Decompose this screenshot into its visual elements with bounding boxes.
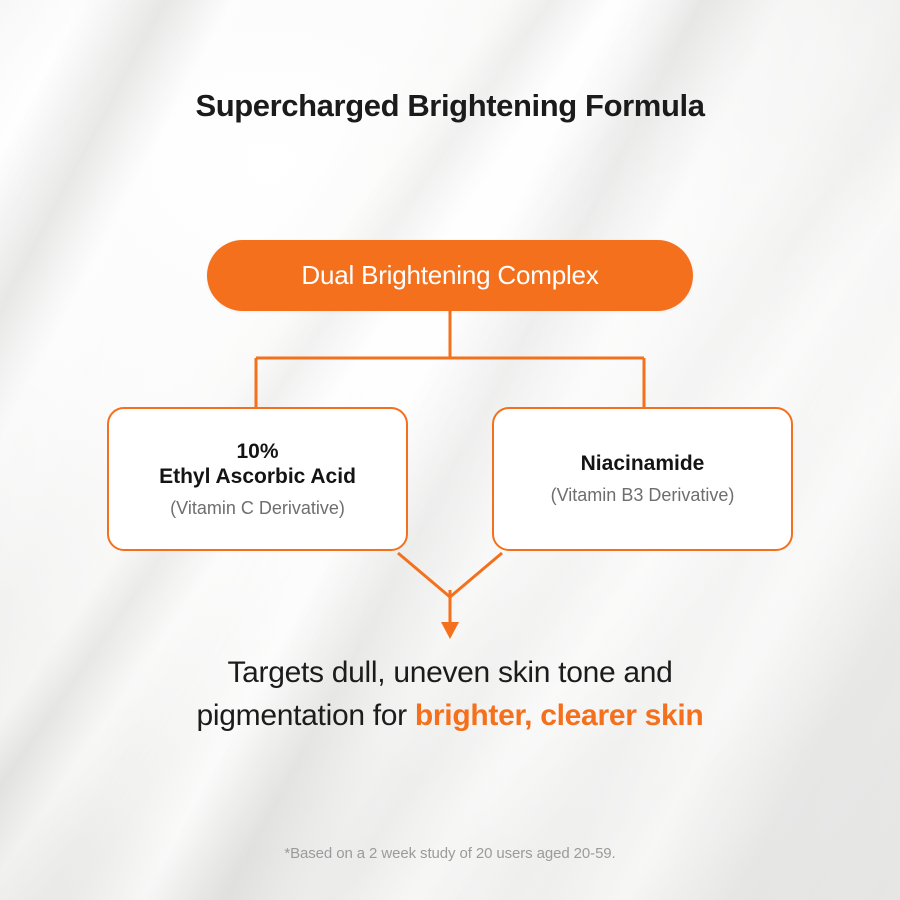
benefit-line-1: Targets dull, uneven skin tone and bbox=[227, 656, 672, 689]
dual-brightening-complex-pill: Dual Brightening Complex bbox=[207, 240, 693, 311]
ingredient-subtitle: (Vitamin C Derivative) bbox=[170, 498, 345, 520]
arrow-down-icon bbox=[441, 622, 459, 639]
infographic-content: Supercharged Brightening Formula Dual Br… bbox=[0, 0, 900, 900]
ingredient-card-ethyl-ascorbic-acid: 10% Ethyl Ascorbic Acid (Vitamin C Deriv… bbox=[107, 407, 408, 551]
benefit-line-2-lead: pigmentation for bbox=[197, 699, 415, 732]
benefit-statement: Targets dull, uneven skin tone and pigme… bbox=[0, 652, 900, 737]
brightening-formula-infographic: Supercharged Brightening Formula Dual Br… bbox=[0, 0, 900, 900]
benefit-highlight: brighter, clearer skin bbox=[415, 699, 704, 732]
ingredient-name: Ethyl Ascorbic Acid bbox=[159, 464, 356, 490]
ingredient-dose: 10% bbox=[236, 439, 278, 465]
study-footnote: *Based on a 2 week study of 20 users age… bbox=[0, 845, 900, 862]
ingredient-card-niacinamide: Niacinamide (Vitamin B3 Derivative) bbox=[492, 407, 793, 551]
ingredient-subtitle: (Vitamin B3 Derivative) bbox=[551, 485, 735, 507]
complex-label: Dual Brightening Complex bbox=[301, 260, 598, 291]
ingredient-name: Niacinamide bbox=[581, 451, 705, 477]
